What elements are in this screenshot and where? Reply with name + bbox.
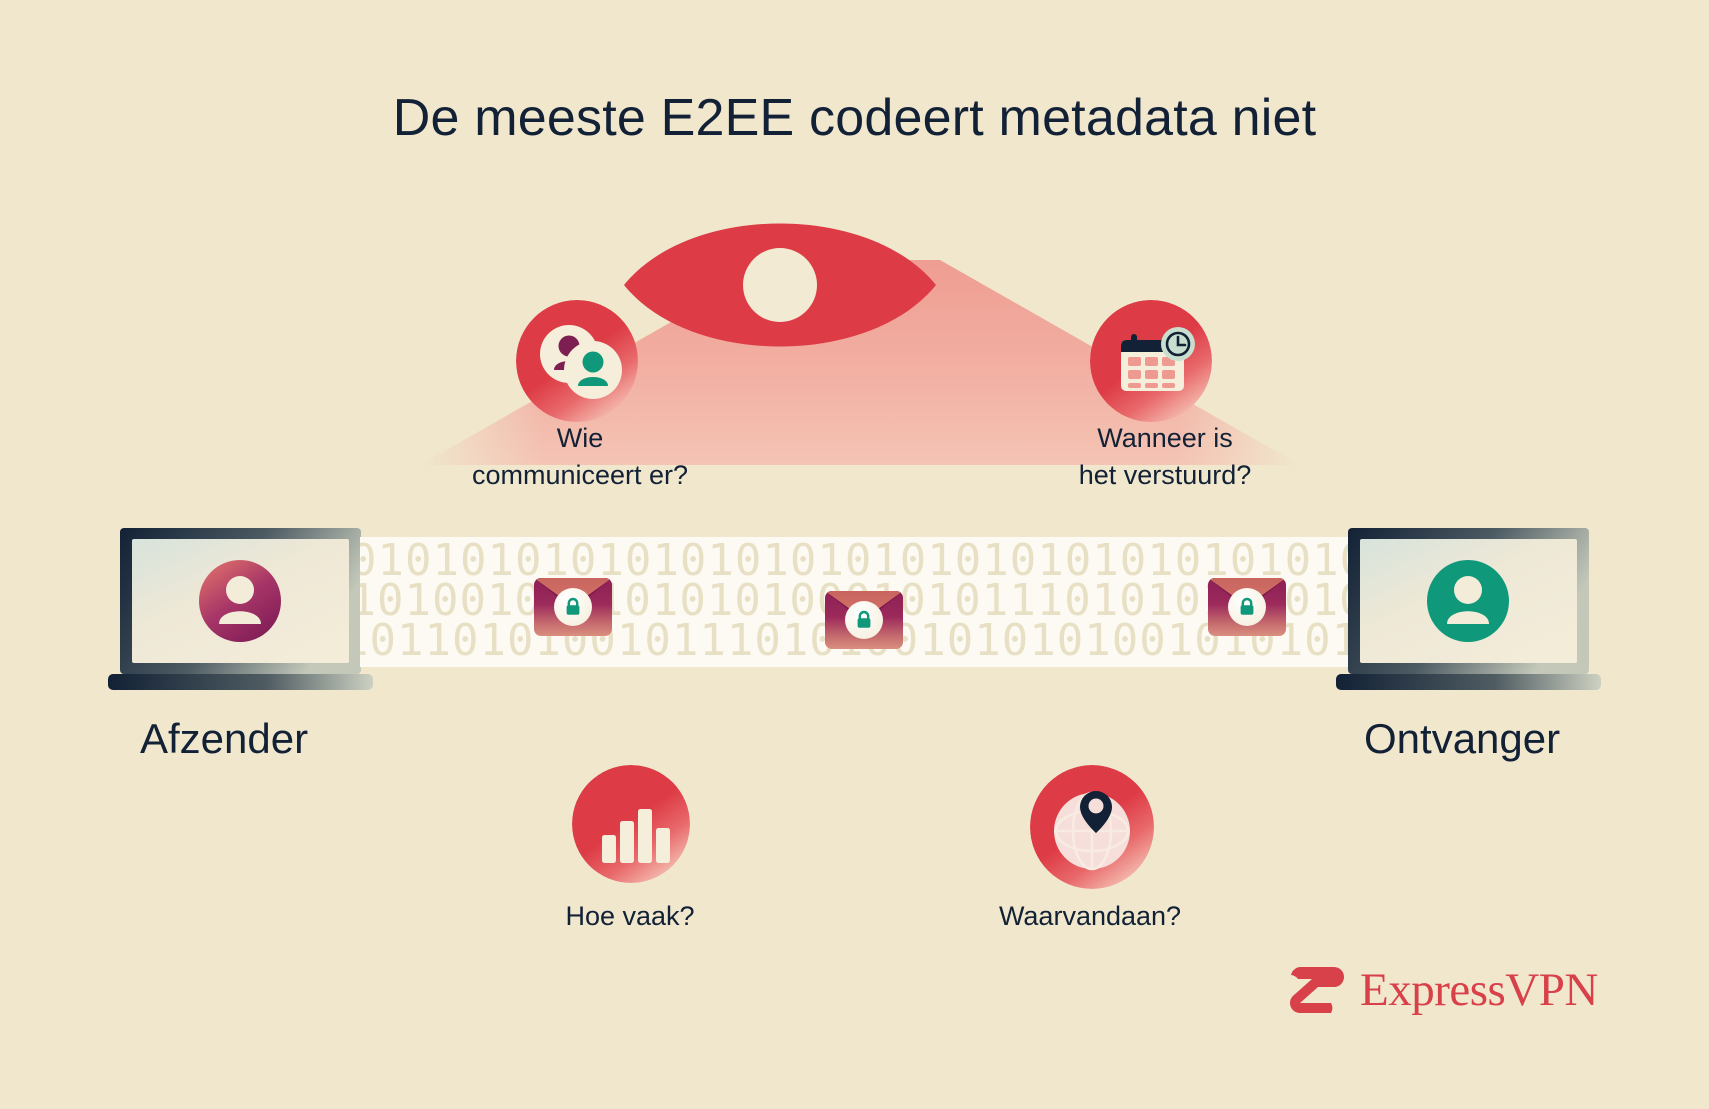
receiver-laptop-icon	[1336, 528, 1601, 703]
question-label-who: Wie communiceert er?	[400, 420, 760, 494]
globe-pin-icon	[1030, 765, 1154, 889]
expressvpn-wordmark: ExpressVPN	[1360, 963, 1598, 1017]
infographic-canvas: De meeste E2EE codeert metadata niet	[0, 0, 1709, 1109]
encrypted-message-icon	[825, 591, 903, 649]
lock-icon	[1236, 596, 1258, 618]
lock-icon	[562, 596, 584, 618]
question-label-how-often: Hoe vaak?	[470, 898, 790, 935]
lock-icon	[853, 609, 875, 631]
eye-icon	[620, 215, 940, 355]
question-when-line2: het verstuurd?	[1015, 457, 1315, 494]
question-where-from-line1: Waarvandaan?	[930, 898, 1250, 935]
calendar-clock-icon	[1090, 300, 1212, 422]
globe-pin-glyph	[1030, 765, 1154, 889]
question-how-often-line1: Hoe vaak?	[470, 898, 790, 935]
encrypted-message-icon	[1208, 578, 1286, 636]
sender-laptop-icon	[108, 528, 373, 703]
question-who-line1: Wie	[400, 420, 760, 457]
question-who-line2: communiceert er?	[400, 457, 760, 494]
sender-label: Afzender	[140, 715, 308, 763]
lock-badge	[1228, 588, 1266, 626]
two-people-icon	[516, 300, 638, 422]
lock-badge	[845, 601, 883, 639]
expressvpn-mark-icon	[1288, 963, 1346, 1017]
two-people-glyph	[516, 300, 638, 422]
lock-badge	[554, 588, 592, 626]
bar-chart-glyph	[572, 765, 690, 883]
question-when-line1: Wanneer is	[1015, 420, 1315, 457]
calendar-clock-glyph	[1090, 300, 1212, 422]
receiver-label: Ontvanger	[1364, 715, 1560, 763]
bar-chart-icon	[572, 765, 690, 883]
question-label-where-from: Waarvandaan?	[930, 898, 1250, 935]
encrypted-message-icon	[534, 578, 612, 636]
page-title: De meeste E2EE codeert metadata niet	[0, 88, 1709, 148]
expressvpn-logo: ExpressVPN	[1288, 963, 1598, 1017]
question-label-when: Wanneer is het verstuurd?	[1015, 420, 1315, 494]
